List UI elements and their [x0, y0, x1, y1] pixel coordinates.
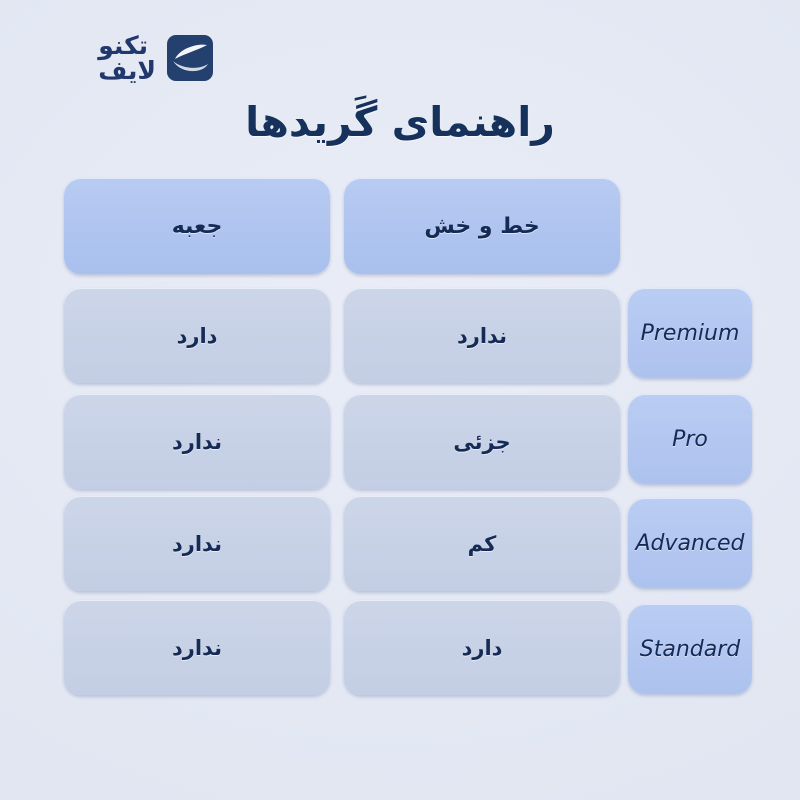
table-cell-value: ندارد: [457, 324, 507, 348]
table-cell-box-pro: ندارد: [64, 394, 330, 489]
grade-label-standard: Standard: [628, 604, 752, 694]
grade-name: Pro: [672, 427, 708, 452]
table-cell-value: ندارد: [172, 636, 222, 660]
table-cell-scratches-premium: ندارد: [344, 288, 620, 383]
table-cell-box-premium: دارد: [64, 288, 330, 383]
table-cell-value: دارد: [177, 324, 218, 348]
column-header-scratches: خط و خش: [344, 178, 620, 274]
grade-name: Advanced: [635, 531, 744, 556]
table-cell-value: دارد: [462, 636, 503, 660]
grade-guide-infographic: تکنو لایف راهنمای گَریدها جعبه خط و خش د…: [0, 0, 800, 800]
table-cell-value: کم: [468, 532, 497, 556]
table-cell-box-advanced: ندارد: [64, 496, 330, 591]
grade-name: Standard: [640, 637, 740, 662]
column-header-scratches-label: خط و خش: [424, 214, 539, 239]
table-cell-value: ندارد: [172, 430, 222, 454]
table-cell-box-standard: ندارد: [64, 600, 330, 695]
grade-label-pro: Pro: [628, 394, 752, 484]
table-cell-scratches-pro: جزئی: [344, 394, 620, 489]
table-cell-value: جزئی: [453, 430, 510, 454]
grade-comparison-table: جعبه خط و خش دارد ندارد Premium ندارد جز…: [0, 0, 800, 800]
table-cell-scratches-advanced: کم: [344, 496, 620, 591]
column-header-box: جعبه: [64, 178, 330, 274]
table-cell-value: ندارد: [172, 532, 222, 556]
table-cell-scratches-standard: دارد: [344, 600, 620, 695]
grade-name: Premium: [641, 321, 740, 346]
column-header-box-label: جعبه: [172, 214, 223, 239]
grade-label-advanced: Advanced: [628, 498, 752, 588]
grade-label-premium: Premium: [628, 288, 752, 378]
